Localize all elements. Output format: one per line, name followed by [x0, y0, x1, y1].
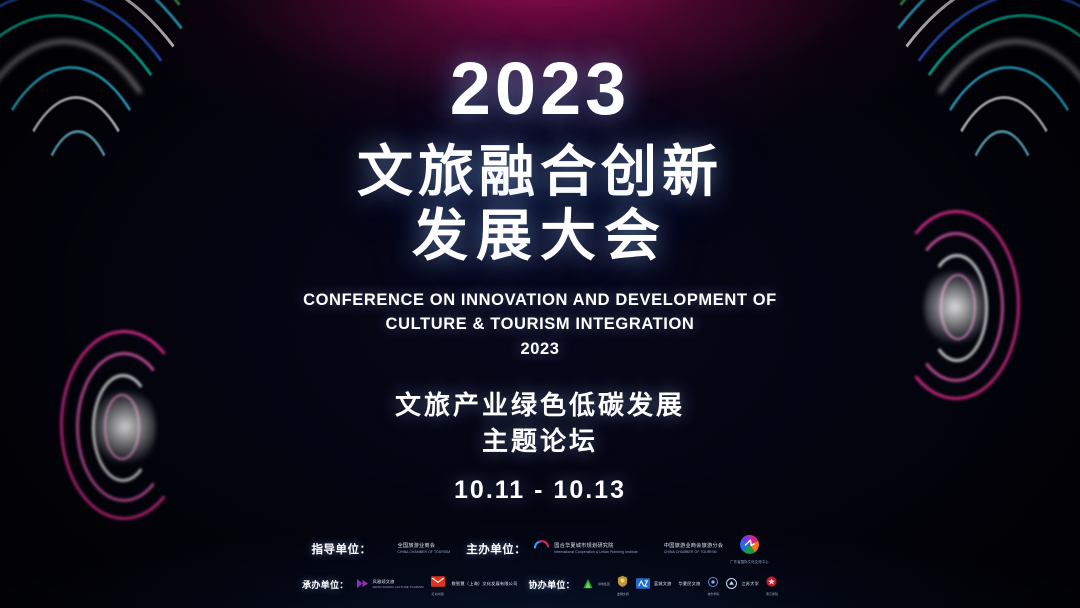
title-cn-line2: 发展大会 — [357, 204, 723, 268]
sponsor-row-primary: 指导单位： 全国旅游业商会 CHINA CHAMBER OF TOURISM 主… — [311, 534, 768, 565]
sponsor-label-host: 承办单位： — [302, 578, 349, 591]
small-badge-icon — [708, 574, 718, 592]
poster-content: 2023 文旅融合创新 发展大会 CONFERENCE ON INNOVATIO… — [0, 0, 1080, 608]
envelope-red-icon — [431, 574, 445, 592]
gcc-arc-icon — [533, 540, 550, 558]
logo-text: 中国旅游业商会旅游分会 CHINA CHAMBER OF TOURISM — [664, 544, 723, 555]
logo-text: 全国旅游业商会 CHINA CHAMBER OF TOURISM — [397, 544, 450, 555]
sponsor-group-cohost: 协办单位： 绿地集团 — [528, 574, 777, 596]
logo-name-cn: 江苏大学 — [741, 582, 759, 587]
title-en-line2: CULTURE & TOURISM INTEGRATION — [303, 312, 777, 337]
title-en-line1: CONFERENCE ON INNOVATION AND DEVELOPMENT… — [303, 288, 777, 313]
page-title: 文旅融合创新 发展大会 — [357, 140, 723, 268]
logo-name-cn: 城市学院 — [707, 593, 719, 596]
title-cn-line1: 文旅融合创新 — [357, 140, 723, 203]
logo-name-en: International Cooperation & Urban Planni… — [554, 551, 638, 555]
logo-guangdong-cultural-exchange[interactable]: 广东省国际文化交流中心 — [730, 534, 768, 565]
logo-nanjing-tourism[interactable]: 南京旅院 — [766, 574, 778, 596]
forum-line1: 文旅产业绿色低碳发展 — [395, 388, 685, 424]
logo-hongdong-china[interactable]: 红动中国 — [431, 574, 445, 596]
sponsor-group-organizer: 主办单位： 国合华夏城市规划研究院 International Cooperat… — [466, 534, 768, 565]
logo-shuzhihui-shanghai[interactable]: 数智慧（上海）文化发展有限公司 — [452, 582, 518, 588]
logo-china-tourism-branch[interactable]: 中国旅游业商会旅游分会 CHINA CHAMBER OF TOURISM — [645, 542, 723, 557]
logo-name-en: CHINA CHAMBER OF TOURISM — [397, 551, 450, 555]
logo-name-cn: 国合华夏城市规划研究院 — [554, 544, 638, 550]
logo-name-cn: 绿地集团 — [598, 583, 610, 586]
logo-name-cn: 南京旅院 — [766, 593, 778, 596]
title-en-year: 2023 — [303, 337, 777, 362]
logo-text: 国合华夏城市规划研究院 International Cooperation & … — [554, 544, 638, 555]
ring-emblem-icon — [726, 576, 737, 594]
logo-name-cn: 广东省国际文化交流中心 — [730, 561, 768, 565]
logo-gcc-urban-planning-institute[interactable]: 国合华夏城市规划研究院 International Cooperation & … — [533, 540, 638, 558]
sponsor-row-secondary: 承办单位： 风雅颂文旅 FENGYASONG CULTURE TOURISM — [302, 574, 778, 596]
conference-poster: 2023 文旅融合创新 发展大会 CONFERENCE ON INNOVATIO… — [0, 0, 1080, 608]
sponsor-label-guidance: 指导单位： — [311, 541, 371, 557]
logo-name-cn: 蓝城文旅 — [654, 582, 672, 587]
logo-name-cn: 华夏民文旅 — [678, 582, 700, 587]
logo-name-cn: 数智慧（上海）文化发展有限公司 — [452, 582, 518, 587]
forum-line2: 主题论坛 — [395, 424, 685, 460]
green-leaf-icon — [582, 576, 594, 594]
logo-name-cn: 红动中国 — [432, 593, 444, 596]
year-heading: 2023 — [450, 52, 631, 126]
logo-text: 风雅颂文旅 FENGYASONG CULTURE TOURISM — [373, 580, 424, 589]
logo-name-cn: 金狮文旅 — [617, 593, 629, 596]
logo-text: 华夏民文旅 — [678, 582, 700, 588]
logo-greenland[interactable]: 绿地集团 — [582, 576, 610, 594]
gold-crest-icon — [617, 574, 628, 592]
logo-text: 江苏大学 — [741, 582, 759, 587]
swoosh-purple-icon — [356, 576, 369, 594]
sponsor-section: 指导单位： 全国旅游业商会 CHINA CHAMBER OF TOURISM 主… — [0, 534, 1080, 596]
sponsor-label-organizer: 主办单位： — [466, 541, 526, 557]
logo-name-en: CHINA CHAMBER OF TOURISM — [664, 551, 723, 555]
forum-theme: 文旅产业绿色低碳发展 主题论坛 — [395, 388, 685, 460]
logo-lancheng[interactable]: 蓝城文旅 — [636, 576, 672, 594]
logo-name-cn: 中国旅游业商会旅游分会 — [664, 544, 723, 550]
logo-text: 蓝城文旅 — [654, 582, 672, 587]
red-seal-icon — [766, 574, 777, 592]
logo-fengyasong[interactable]: 风雅颂文旅 FENGYASONG CULTURE TOURISM — [356, 576, 424, 594]
logo-name-cn: 全国旅游业商会 — [397, 544, 450, 550]
event-dates: 10.11 - 10.13 — [454, 476, 626, 505]
logo-jinshi[interactable]: 金狮文旅 — [617, 574, 629, 596]
subtitle-english: CONFERENCE ON INNOVATION AND DEVELOPMENT… — [303, 288, 777, 362]
four-squares-icon — [643, 540, 661, 558]
logo-china-chamber-of-tourism[interactable]: 全国旅游业商会 CHINA CHAMBER OF TOURISM — [378, 542, 450, 557]
logo-text: 数智慧（上海）文化发展有限公司 — [452, 582, 518, 588]
blue-tile-icon — [636, 576, 650, 594]
logo-jiangsu-university[interactable]: 江苏大学 — [726, 576, 759, 594]
sponsor-label-cohost: 协办单位： — [528, 578, 575, 591]
logo-huaxia-minwenlv[interactable]: 华夏民文旅 — [678, 582, 700, 588]
logo-name-en: FENGYASONG CULTURE TOURISM — [373, 586, 424, 589]
sponsor-group-guidance: 指导单位： 全国旅游业商会 CHINA CHAMBER OF TOURISM — [311, 541, 450, 557]
color-wheel-icon — [739, 534, 760, 560]
sponsor-group-host: 承办单位： 风雅颂文旅 FENGYASONG CULTURE TOURISM — [302, 574, 517, 596]
logo-city-college[interactable]: 城市学院 — [707, 574, 719, 596]
four-squares-icon — [377, 540, 395, 558]
